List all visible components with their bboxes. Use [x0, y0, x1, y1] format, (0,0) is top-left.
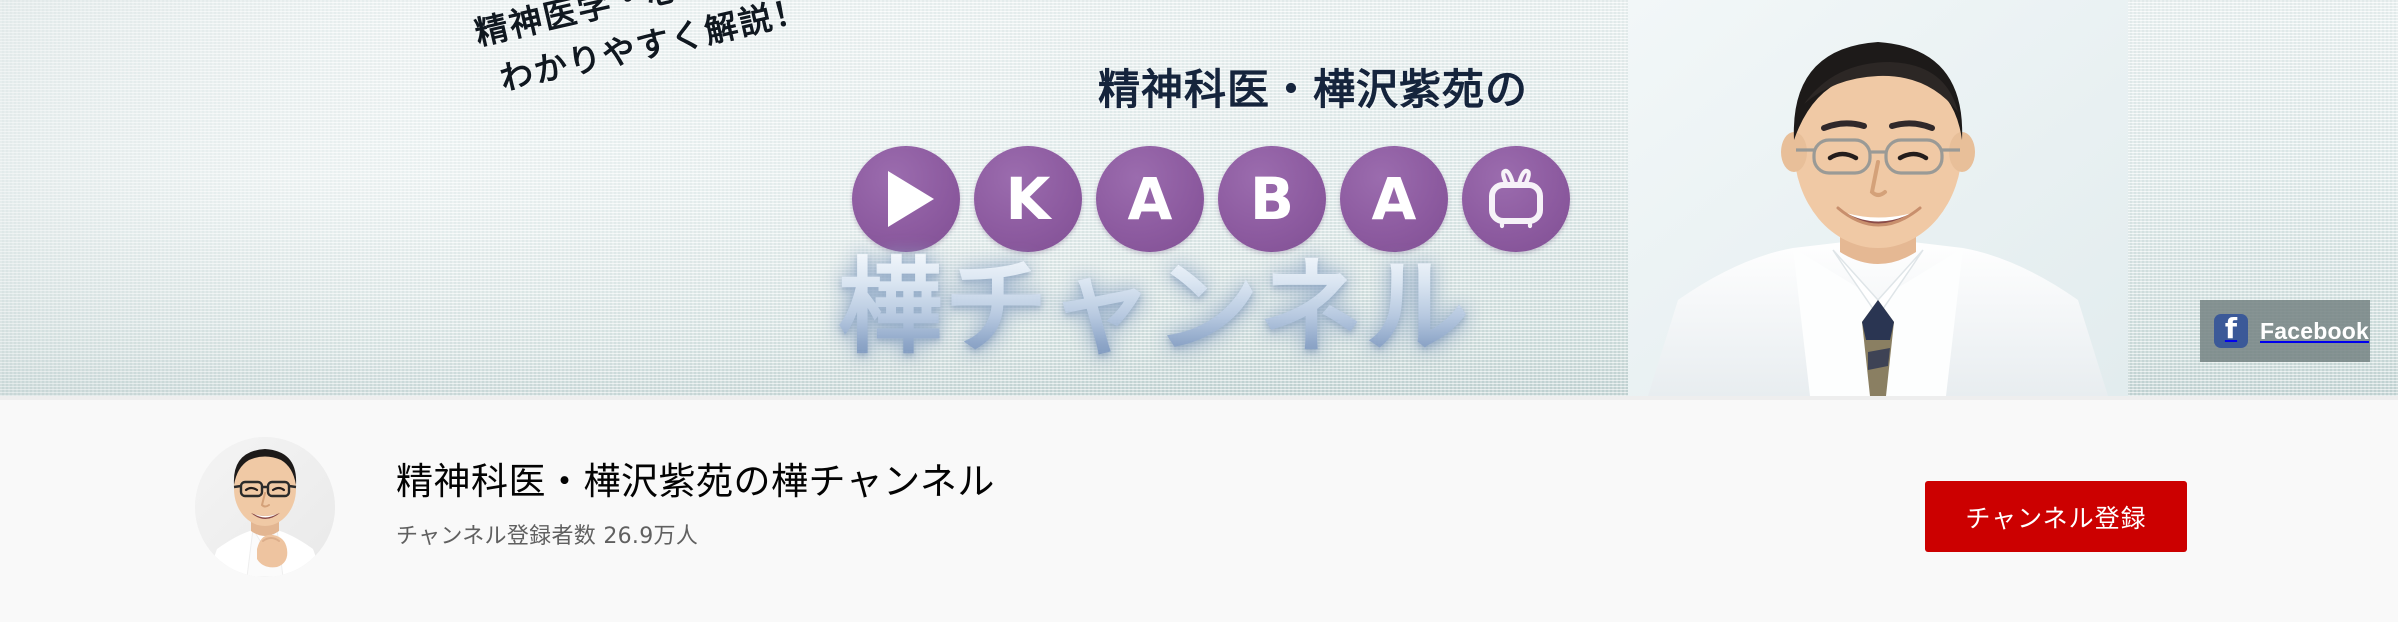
- channel-meta: 精神科医・樺沢紫苑の樺チャンネル チャンネル登録者数 26.9万人: [396, 460, 995, 550]
- channel-avatar[interactable]: [195, 437, 335, 577]
- facebook-icon-glyph: f: [2225, 315, 2237, 343]
- youtube-channel-header: 精神医学・心理学を わかりやすく解説！ 精神科医・樺沢紫苑の K A B A: [0, 0, 2398, 622]
- facebook-link-badge[interactable]: f Facebook: [2200, 300, 2370, 362]
- kaba-circle-play: [852, 146, 960, 252]
- kaba-circle-b: B: [1218, 146, 1326, 252]
- facebook-label: Facebook: [2260, 318, 2369, 345]
- channel-title: 精神科医・樺沢紫苑の樺チャンネル: [396, 460, 995, 504]
- channel-banner[interactable]: 精神医学・心理学を わかりやすく解説！ 精神科医・樺沢紫苑の K A B A: [0, 0, 2398, 396]
- kaba-letter-a1: A: [1128, 170, 1173, 228]
- banner-tagline: 精神医学・心理学を わかりやすく解説！: [470, 0, 813, 108]
- kaba-circle-tv: [1462, 146, 1570, 252]
- kaba-logo-row: K A B A: [852, 146, 1570, 252]
- play-icon: [888, 171, 934, 227]
- subscriber-count: チャンネル登録者数 26.9万人: [396, 518, 995, 550]
- kaba-letter-a2: A: [1372, 170, 1417, 228]
- banner-logo-word: 樺チャンネル: [838, 250, 1471, 364]
- kaba-letter-b: B: [1250, 170, 1294, 228]
- banner-kicker: 精神科医・樺沢紫苑の: [1098, 56, 1528, 117]
- kaba-circle-a1: A: [1096, 146, 1204, 252]
- facebook-icon: f: [2214, 314, 2248, 348]
- subscribe-button[interactable]: チャンネル登録: [1925, 481, 2187, 552]
- retro-tv-icon: [1483, 168, 1549, 230]
- host-portrait-photo: [1628, 0, 2128, 396]
- kaba-circle-k: K: [974, 146, 1082, 252]
- kaba-circle-a2: A: [1340, 146, 1448, 252]
- kaba-letter-k: K: [1006, 170, 1051, 228]
